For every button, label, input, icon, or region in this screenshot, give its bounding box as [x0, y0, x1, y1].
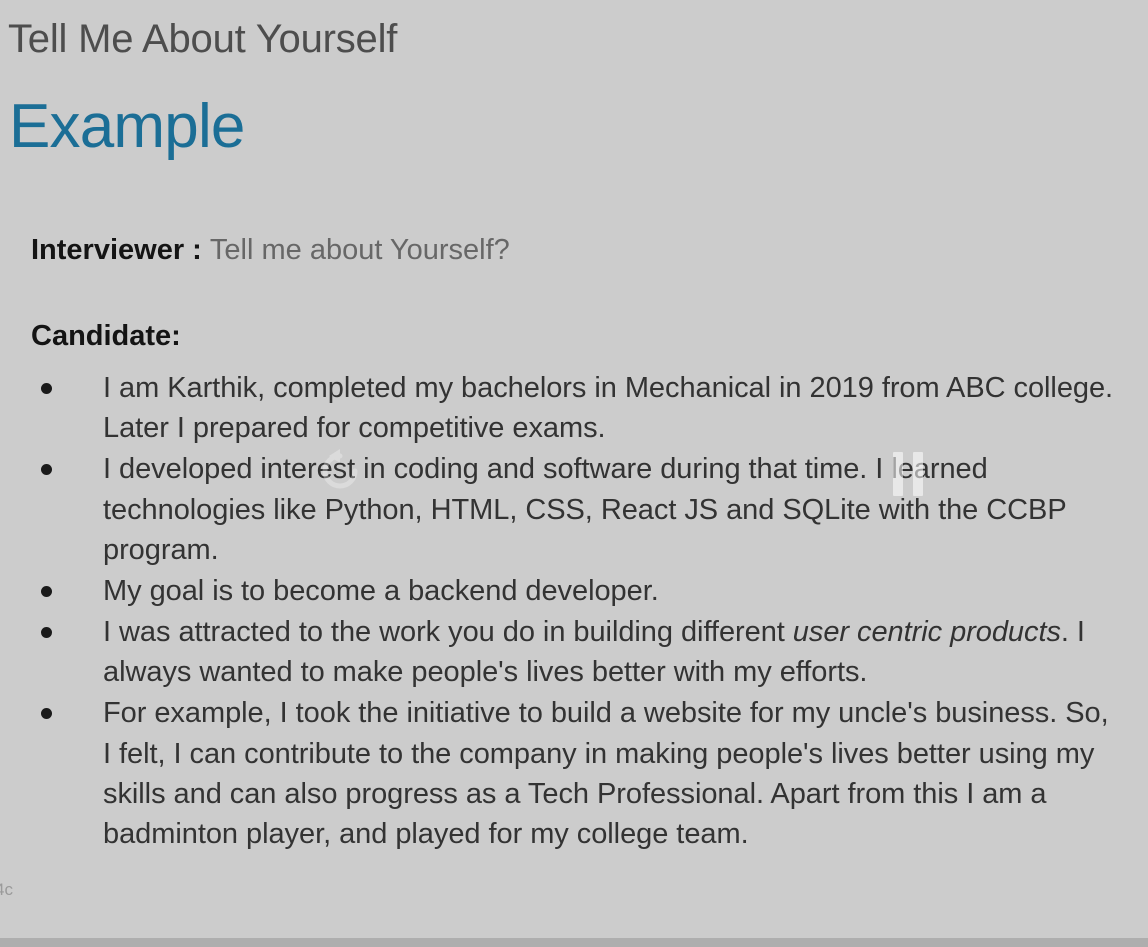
page-title: Tell Me About Yourself: [8, 14, 1108, 64]
list-item: My goal is to become a backend developer…: [31, 571, 1116, 611]
list-item: I am Karthik, completed my bachelors in …: [31, 368, 1116, 449]
slide-canvas: Tell Me About Yourself Example Interview…: [0, 0, 1148, 947]
bullet-dot-icon: [41, 383, 52, 394]
qa-content: Interviewer : Tell me about Yourself? Ca…: [31, 228, 1116, 855]
list-item: I was attracted to the work you do in bu…: [31, 612, 1116, 693]
video-player-progress-bar[interactable]: [0, 938, 1148, 947]
list-item-text: I was attracted to the work you do in bu…: [103, 616, 1085, 688]
bullet-dot-icon: [41, 708, 52, 719]
list-item-text: My goal is to become a backend developer…: [103, 575, 659, 607]
candidate-label: Candidate:: [31, 318, 1116, 354]
list-item-text: I developed interest in coding and softw…: [103, 453, 1066, 566]
list-item-text: For example, I took the initiative to bu…: [103, 697, 1109, 850]
list-item: For example, I took the initiative to bu…: [31, 693, 1116, 855]
slide-subtitle: Example: [9, 86, 245, 168]
list-item-emphasis: user centric products: [793, 616, 1061, 648]
candidate-points-list: I am Karthik, completed my bachelors in …: [31, 368, 1116, 855]
interviewer-line: Interviewer : Tell me about Yourself?: [31, 228, 1116, 272]
interviewer-label: Interviewer :: [31, 234, 202, 266]
list-item: I developed interest in coding and softw…: [31, 449, 1116, 570]
list-item-text-lead: I was attracted to the work you do in bu…: [103, 616, 793, 648]
bullet-dot-icon: [41, 586, 52, 597]
slide-heading-block: Tell Me About Yourself: [8, 14, 1108, 64]
bullet-dot-icon: [41, 464, 52, 475]
interviewer-question: Tell me about Yourself?: [210, 234, 510, 266]
timecode-watermark: 4c: [0, 880, 13, 900]
bullet-dot-icon: [41, 627, 52, 638]
list-item-text: I am Karthik, completed my bachelors in …: [103, 372, 1113, 444]
